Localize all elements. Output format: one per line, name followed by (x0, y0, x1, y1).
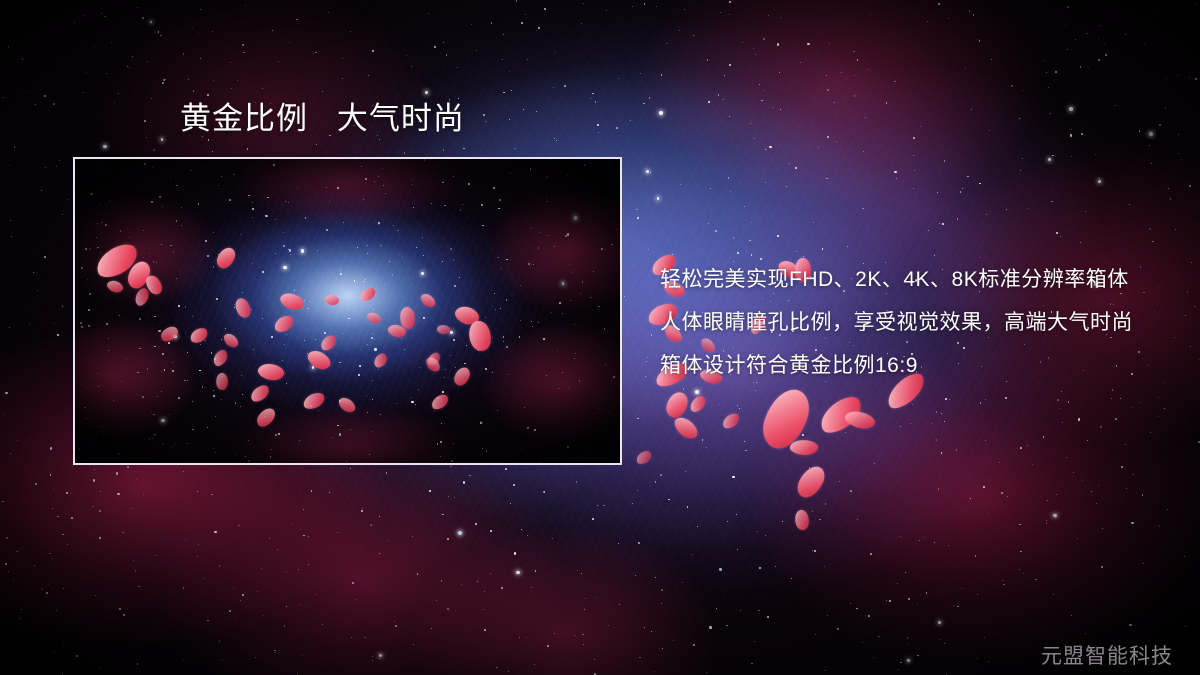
petal (843, 407, 877, 432)
petal (665, 390, 690, 420)
watermark-label: 元盟智能科技 (1041, 644, 1173, 670)
body-text-line-3: 箱体设计符合黄金比例16:9 (660, 344, 1133, 387)
petal (815, 392, 868, 438)
body-text-line-1: 轻松完美实现FHD、2K、4K、8K标准分辨率箱体 (660, 258, 1133, 301)
image-panel (73, 157, 622, 465)
slide-canvas: 黄金比例 大气时尚 轻松完美实现FHD、2K、4K、8K标准分辨率箱体 人体眼睛… (0, 0, 1200, 675)
petal (794, 462, 829, 502)
body-text-block: 轻松完美实现FHD、2K、4K、8K标准分辨率箱体 人体眼睛瞳孔比例，享受视觉效… (660, 258, 1133, 387)
petal (687, 394, 709, 415)
petal (757, 383, 814, 454)
panel-vignette (75, 159, 620, 463)
petal (671, 413, 700, 443)
petal (720, 411, 742, 430)
petal (634, 449, 653, 466)
petal (792, 508, 811, 531)
body-text-line-2: 人体眼睛瞳孔比例，享受视觉效果，高端大气时尚 (660, 301, 1133, 344)
petal (789, 438, 819, 457)
page-title: 黄金比例 大气时尚 (180, 100, 465, 138)
